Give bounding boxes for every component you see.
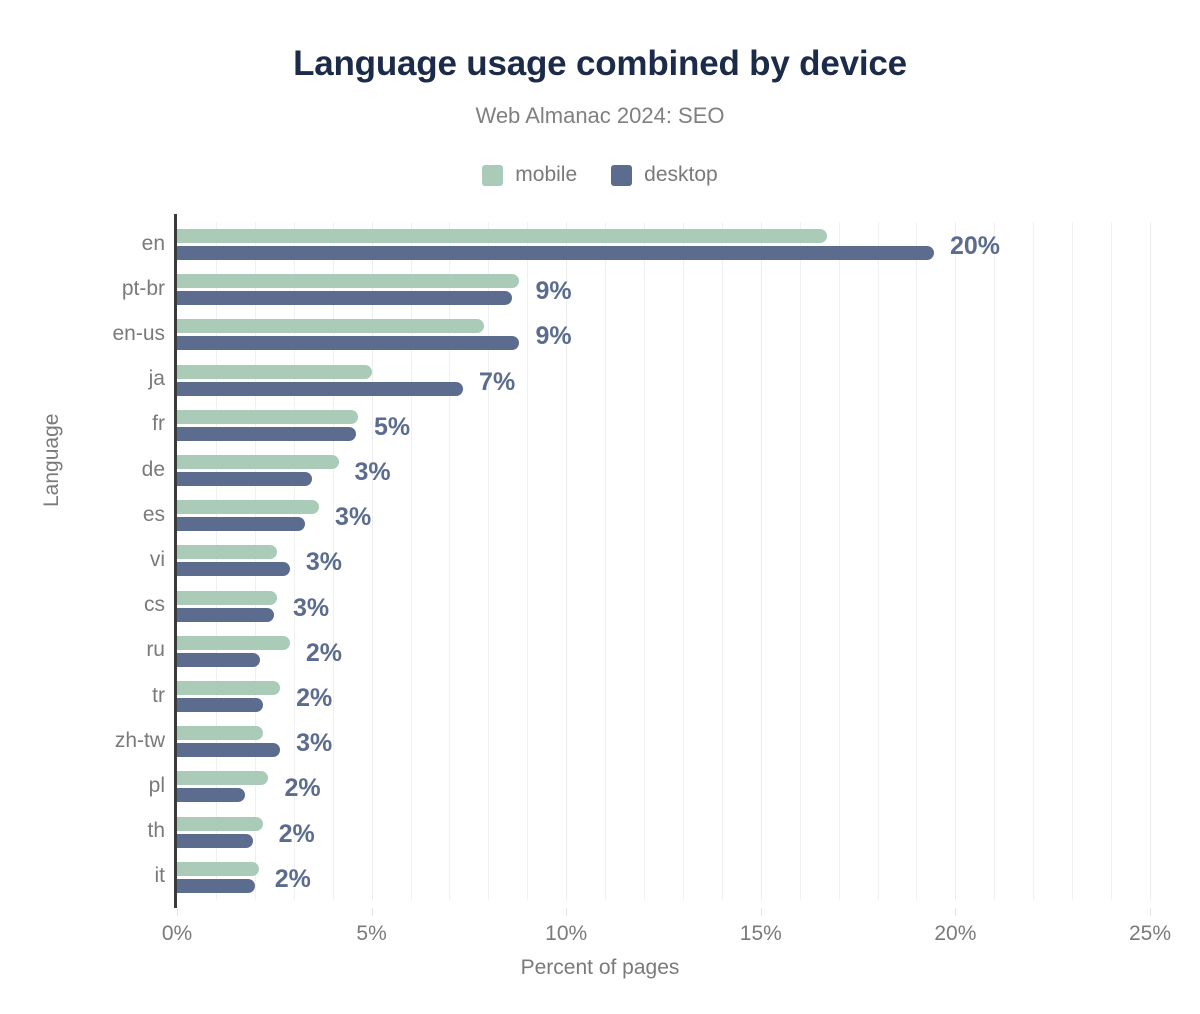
bar-mobile-en[interactable] xyxy=(177,229,827,243)
bar-desktop-de[interactable] xyxy=(177,472,312,486)
y-tick-label-zh-tw: zh-tw xyxy=(0,729,165,753)
chart-subtitle: Web Almanac 2024: SEO xyxy=(0,103,1200,129)
x-tick-label-0%: 0% xyxy=(162,922,192,946)
y-tick-label-ja: ja xyxy=(0,367,165,391)
legend-label: desktop xyxy=(644,163,718,187)
data-label-ja: 7% xyxy=(479,368,515,397)
y-tick-label-vi: vi xyxy=(0,548,165,572)
bar-desktop-ru[interactable] xyxy=(177,653,260,667)
bar-desktop-en[interactable] xyxy=(177,246,934,260)
y-tick-label-en: en xyxy=(0,232,165,256)
x-tick-label-15%: 15% xyxy=(740,922,782,946)
y-tick-label-pl: pl xyxy=(0,774,165,798)
bar-desktop-vi[interactable] xyxy=(177,562,290,576)
bar-group-ja: 7% xyxy=(177,358,1150,403)
data-label-es: 3% xyxy=(335,503,371,532)
x-tick-mark xyxy=(372,908,373,916)
bar-group-it: 2% xyxy=(177,855,1150,900)
x-axis-tick-labels: 0%5%10%15%20%25% xyxy=(177,908,1150,942)
y-tick-label-tr: tr xyxy=(0,684,165,708)
y-tick-label-de: de xyxy=(0,458,165,482)
bar-desktop-es[interactable] xyxy=(177,517,305,531)
bar-desktop-pt-br[interactable] xyxy=(177,291,512,305)
bar-desktop-zh-tw[interactable] xyxy=(177,743,280,757)
bar-group-tr: 2% xyxy=(177,674,1150,719)
data-label-de: 3% xyxy=(355,458,391,487)
data-label-ru: 2% xyxy=(306,639,342,668)
bar-mobile-fr[interactable] xyxy=(177,410,358,424)
gridline xyxy=(1150,222,1151,900)
bar-group-zh-tw: 3% xyxy=(177,719,1150,764)
bar-group-pl: 2% xyxy=(177,764,1150,809)
bar-group-en-us: 9% xyxy=(177,312,1150,357)
bar-mobile-vi[interactable] xyxy=(177,545,277,559)
y-tick-label-th: th xyxy=(0,819,165,843)
legend-label: mobile xyxy=(515,163,577,187)
x-tick-mark xyxy=(955,908,956,916)
bar-group-cs: 3% xyxy=(177,584,1150,629)
y-axis-tick-labels: enpt-bren-usjafrdeesvicsrutrzh-twplthit xyxy=(0,222,165,900)
data-label-pt-br: 9% xyxy=(535,277,571,306)
x-tick-mark xyxy=(566,908,567,916)
bar-mobile-pt-br[interactable] xyxy=(177,274,519,288)
legend-item-mobile[interactable]: mobile xyxy=(482,163,577,187)
data-label-cs: 3% xyxy=(293,594,329,623)
bar-desktop-tr[interactable] xyxy=(177,698,263,712)
data-label-it: 2% xyxy=(275,865,311,894)
data-label-zh-tw: 3% xyxy=(296,729,332,758)
bar-mobile-ru[interactable] xyxy=(177,636,290,650)
legend-swatch-icon xyxy=(482,165,503,186)
y-tick-label-ru: ru xyxy=(0,638,165,662)
bar-group-fr: 5% xyxy=(177,403,1150,448)
y-tick-label-cs: cs xyxy=(0,593,165,617)
bar-mobile-cs[interactable] xyxy=(177,591,277,605)
chart-title: Language usage combined by device xyxy=(0,44,1200,84)
y-tick-label-en-us: en-us xyxy=(0,322,165,346)
bar-group-pt-br: 9% xyxy=(177,267,1150,312)
bar-group-es: 3% xyxy=(177,493,1150,538)
x-tick-mark xyxy=(1150,908,1151,916)
bar-mobile-es[interactable] xyxy=(177,500,319,514)
bar-mobile-th[interactable] xyxy=(177,817,263,831)
x-tick-mark xyxy=(177,908,178,916)
x-tick-label-5%: 5% xyxy=(356,922,386,946)
bar-desktop-ja[interactable] xyxy=(177,382,463,396)
legend-item-desktop[interactable]: desktop xyxy=(611,163,718,187)
bar-mobile-pl[interactable] xyxy=(177,771,268,785)
x-tick-mark xyxy=(761,908,762,916)
x-tick-label-10%: 10% xyxy=(545,922,587,946)
bar-mobile-ja[interactable] xyxy=(177,365,372,379)
data-label-pl: 2% xyxy=(284,774,320,803)
bar-desktop-pl[interactable] xyxy=(177,788,245,802)
chart-legend: mobiledesktop xyxy=(0,163,1200,187)
y-tick-label-fr: fr xyxy=(0,412,165,436)
bar-mobile-it[interactable] xyxy=(177,862,259,876)
data-label-tr: 2% xyxy=(296,684,332,713)
bar-desktop-fr[interactable] xyxy=(177,427,356,441)
y-axis-title: Language xyxy=(40,414,64,507)
x-tick-label-20%: 20% xyxy=(934,922,976,946)
y-tick-label-it: it xyxy=(0,864,165,888)
y-tick-label-es: es xyxy=(0,503,165,527)
bar-group-vi: 3% xyxy=(177,538,1150,583)
chart-container: Language usage combined by device Web Al… xyxy=(0,0,1200,1014)
data-label-th: 2% xyxy=(279,820,315,849)
bar-desktop-th[interactable] xyxy=(177,834,253,848)
bar-desktop-en-us[interactable] xyxy=(177,336,519,350)
bar-desktop-it[interactable] xyxy=(177,879,255,893)
bar-group-ru: 2% xyxy=(177,629,1150,674)
data-label-en-us: 9% xyxy=(535,322,571,351)
data-label-fr: 5% xyxy=(374,413,410,442)
bar-group-en: 20% xyxy=(177,222,1150,267)
data-label-en: 20% xyxy=(950,232,1000,261)
bar-desktop-cs[interactable] xyxy=(177,608,274,622)
bar-mobile-tr[interactable] xyxy=(177,681,280,695)
bar-group-de: 3% xyxy=(177,448,1150,493)
bar-mobile-de[interactable] xyxy=(177,455,339,469)
x-tick-label-25%: 25% xyxy=(1129,922,1171,946)
bar-mobile-en-us[interactable] xyxy=(177,319,484,333)
bar-mobile-zh-tw[interactable] xyxy=(177,726,263,740)
x-axis-title: Percent of pages xyxy=(0,956,1200,980)
data-label-vi: 3% xyxy=(306,548,342,577)
y-tick-label-pt-br: pt-br xyxy=(0,277,165,301)
legend-swatch-icon xyxy=(611,165,632,186)
bar-group-th: 2% xyxy=(177,810,1150,855)
plot-area: 20%9%9%7%5%3%3%3%3%2%2%3%2%2%2% xyxy=(177,222,1150,900)
